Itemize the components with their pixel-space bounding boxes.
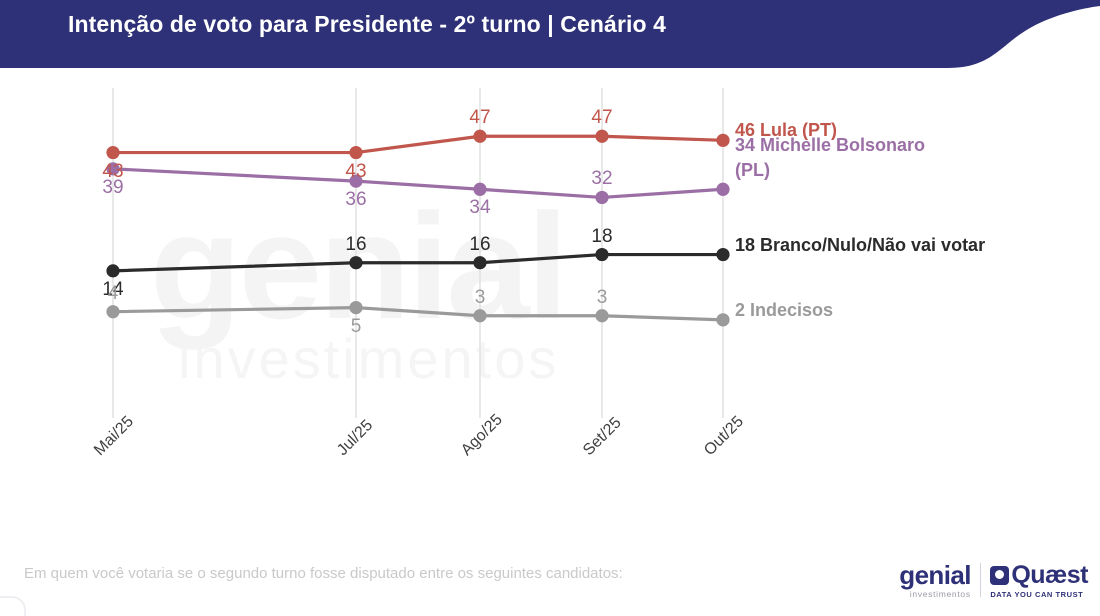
value-label: 3 [475,287,486,309]
value-label: 16 [345,234,366,256]
data-point[interactable] [106,146,119,159]
data-point[interactable] [349,301,362,314]
value-label: 16 [469,234,490,256]
genial-logo: genial investimentos [899,562,971,599]
quaest-logo-tagline: DATA YOU CAN TRUST [990,591,1083,599]
data-point[interactable] [595,248,608,261]
data-point[interactable] [716,183,729,196]
data-point[interactable] [595,309,608,322]
value-label: 5 [351,316,362,338]
logo-divider [980,563,982,597]
data-point[interactable] [473,256,486,269]
series-line-3 [113,308,723,320]
data-point[interactable] [473,130,486,143]
value-label: 43 [345,161,366,183]
value-label: 36 [345,189,366,211]
data-point[interactable] [349,256,362,269]
series-end-label: 34 Michelle Bolsonaro(PL) [735,133,925,182]
question-note: Em quem você votaria se o segundo turno … [24,565,623,582]
series-line-0 [113,136,723,152]
series-line-2 [113,255,723,271]
value-label: 4 [108,283,119,305]
quaest-logo-wordmark: Quæst [990,563,1088,588]
value-label: 47 [469,107,490,129]
page-title: Intenção de voto para Presidente - 2º tu… [68,11,666,38]
data-point[interactable] [106,264,119,277]
quaest-logo-text: Quæst [1011,563,1088,588]
data-point[interactable] [106,305,119,318]
value-label: 34 [469,197,490,219]
data-point[interactable] [473,309,486,322]
genial-logo-tagline: investimentos [910,590,971,599]
series-end-label: 2 Indecisos [735,298,833,322]
data-point[interactable] [716,313,729,326]
value-label: 47 [591,107,612,129]
quaest-logo: Quæst DATA YOU CAN TRUST [990,563,1088,599]
footer-logos: genial investimentos Quæst DATA YOU CAN … [899,562,1088,599]
data-point[interactable] [473,183,486,196]
genial-logo-wordmark: genial [899,562,971,588]
value-label: 39 [102,177,123,199]
series-line-1 [113,169,723,198]
value-label: 3 [597,287,608,309]
data-point[interactable] [595,191,608,204]
series-end-label-line: (PL) [735,158,925,182]
line-chart-plot-area: 4343474739363432141616184533 46 Lula (PT… [0,80,1100,430]
value-label: 18 [591,226,612,248]
data-point[interactable] [595,130,608,143]
x-axis-tick-labels: Mai/25Jul/25Ago/25Set/25Out/25 [0,425,1100,495]
data-point[interactable] [716,134,729,147]
value-label: 32 [591,168,612,190]
data-point[interactable] [716,248,729,261]
header-banner: Intenção de voto para Presidente - 2º tu… [0,0,1100,90]
series-end-label-line: 34 Michelle Bolsonaro [735,133,925,157]
slide-root: Intenção de voto para Presidente - 2º tu… [0,0,1100,616]
data-point[interactable] [349,146,362,159]
series-end-label: 18 Branco/Nulo/Não vai votar [735,233,985,257]
quaest-badge-icon [990,566,1009,585]
corner-decoration [0,596,26,616]
